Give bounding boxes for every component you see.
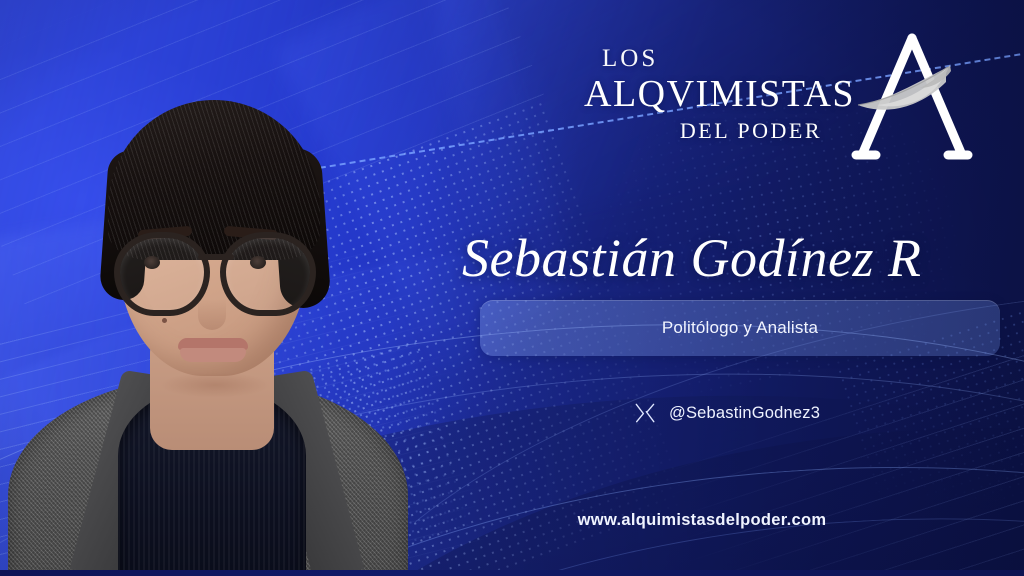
portrait-lower-lip xyxy=(180,348,246,362)
logo-line-del-poder: DEL PODER xyxy=(584,119,832,143)
bottom-strip xyxy=(0,570,1024,576)
speaker-role-text: Politólogo y Analista xyxy=(662,318,818,338)
logo-line-alquimistas: ALQVIMISTAS xyxy=(584,73,832,116)
social-handle-text[interactable]: @SebastinGodnez3 xyxy=(669,404,820,423)
speaker-name: Sebastián Godínez R xyxy=(462,227,1002,289)
x-twitter-icon xyxy=(634,402,656,424)
glasses-lens-right xyxy=(220,232,316,316)
monogram-a-with-feather-icon xyxy=(846,24,982,169)
logo-line-los: LOS xyxy=(584,46,832,71)
speaker-portrait xyxy=(0,0,430,576)
brand-logo: LOS ALQVIMISTAS DEL PODER xyxy=(584,46,832,143)
social-handle-row[interactable]: @SebastinGodnez3 xyxy=(634,402,820,424)
glasses-lens-left xyxy=(114,232,210,316)
speaker-card-slide: LOS ALQVIMISTAS DEL PODER Sebastián Godí… xyxy=(0,0,1024,576)
glasses-bridge xyxy=(198,254,234,260)
portrait-mole xyxy=(162,318,167,323)
portrait-nose xyxy=(198,286,226,330)
brand-monogram xyxy=(846,24,982,169)
speaker-role-bar: Politólogo y Analista xyxy=(480,300,1000,356)
website-url[interactable]: www.alquimistasdelpoder.com xyxy=(0,511,1024,530)
portrait-chin-shadow xyxy=(160,372,270,398)
